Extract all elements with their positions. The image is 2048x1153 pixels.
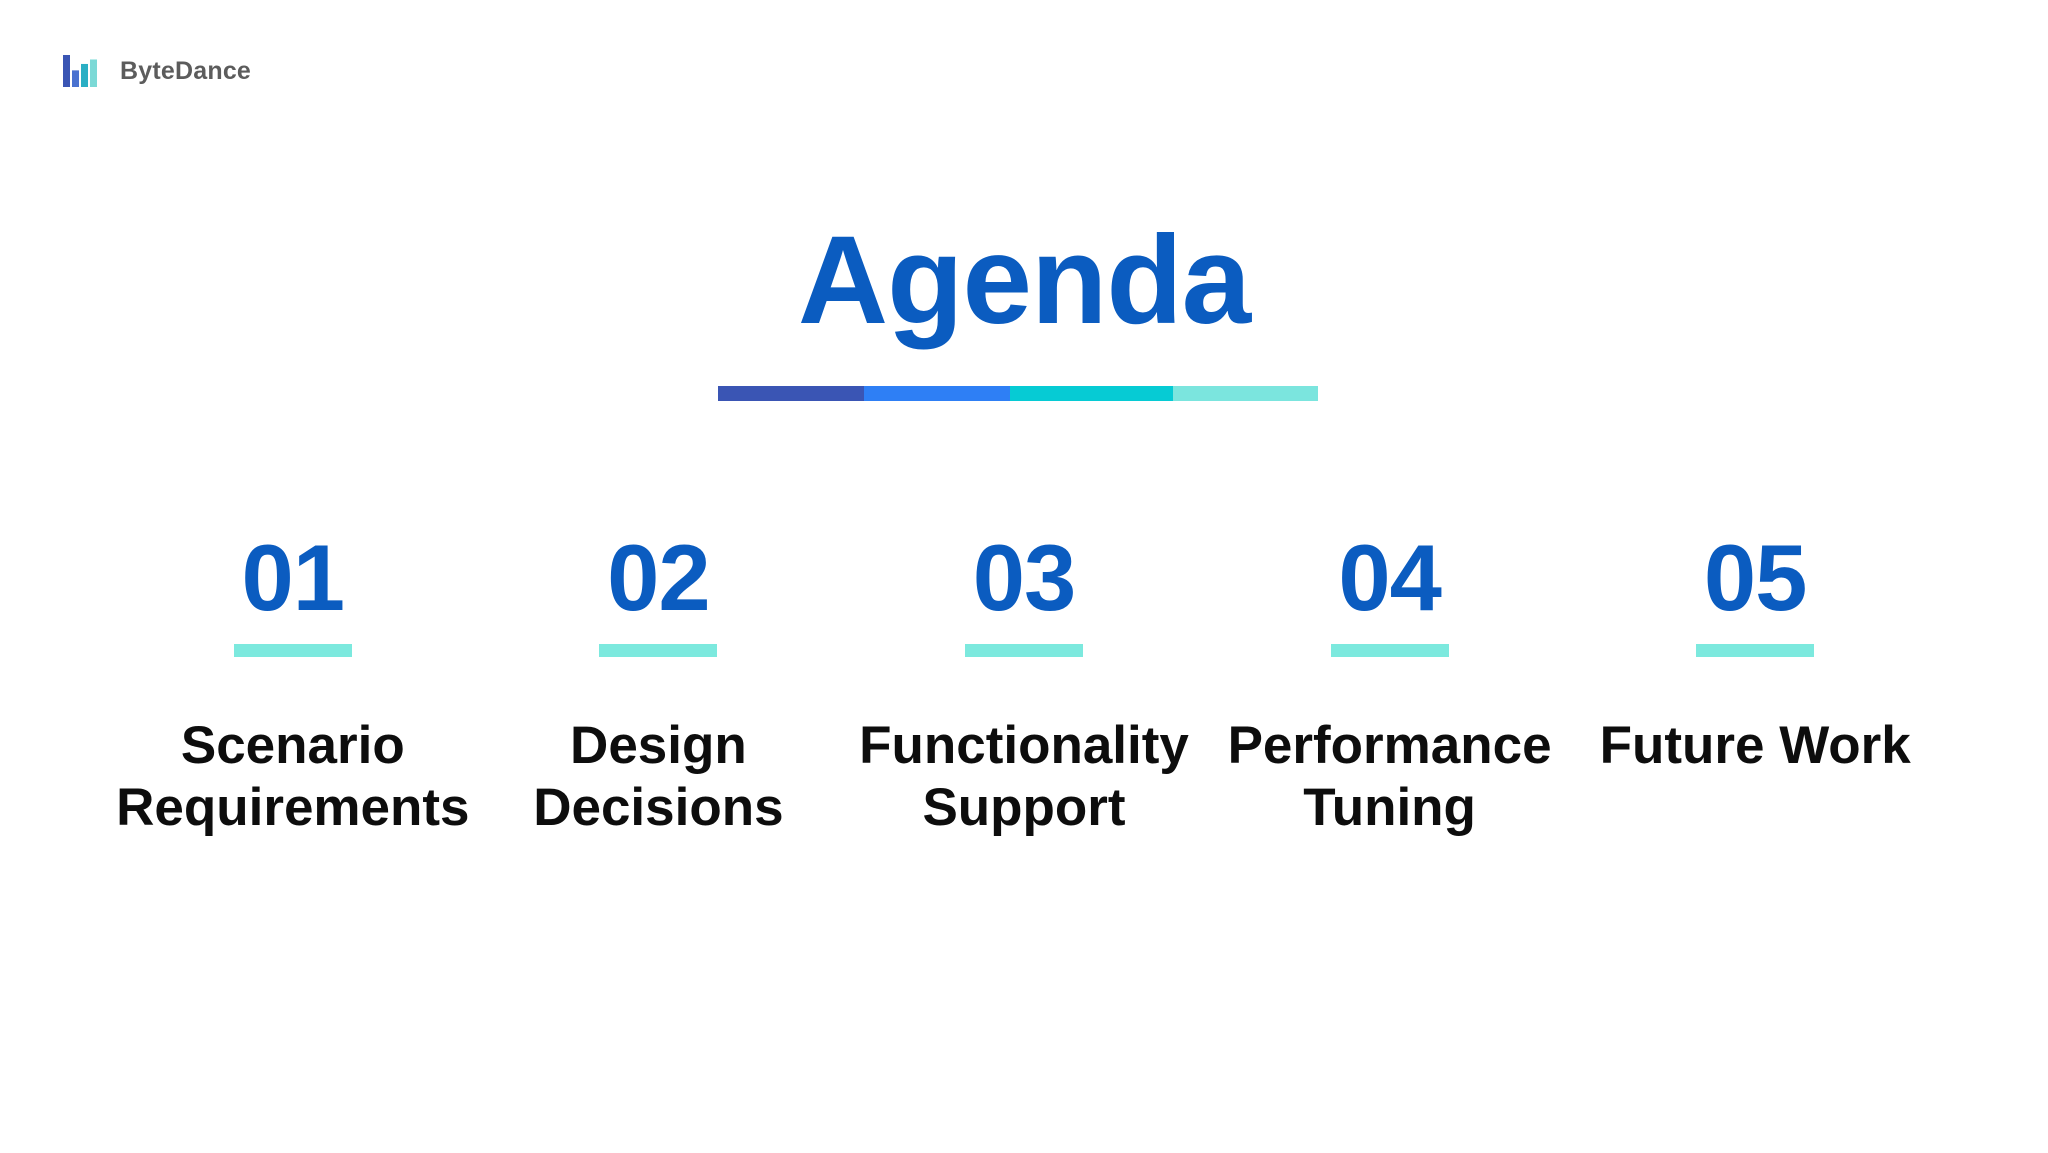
slide-title-block: Agenda [0, 218, 2048, 343]
agenda-item-label: Performance Tuning [1207, 715, 1573, 840]
agenda-item-label: Design Decisions [476, 715, 842, 840]
bar-chart-logo-icon [62, 55, 98, 87]
agenda-items-row: 01 Scenario Requirements 02 Design Decis… [0, 530, 2048, 840]
agenda-item-number: 04 [1338, 530, 1441, 626]
agenda-item-label: Future Work [1600, 715, 1911, 778]
agenda-item-04[interactable]: 04 Performance Tuning [1207, 530, 1573, 840]
agenda-item-label: Scenario Requirements [110, 715, 476, 840]
brand-name: ByteDance [120, 57, 251, 86]
title-gradient-rule [718, 386, 1318, 401]
rule-segment-mint [1173, 386, 1318, 401]
agenda-item-03[interactable]: 03 Functionality Support [841, 530, 1207, 840]
agenda-item-underline [234, 644, 352, 657]
rule-segment-indigo [718, 386, 864, 401]
agenda-item-underline [1331, 644, 1449, 657]
rule-segment-blue [864, 386, 1010, 401]
agenda-item-label: Functionality Support [841, 715, 1207, 840]
agenda-item-number: 01 [242, 530, 345, 626]
agenda-item-05[interactable]: 05 Future Work [1572, 530, 1938, 777]
agenda-item-01[interactable]: 01 Scenario Requirements [110, 530, 476, 840]
agenda-item-02[interactable]: 02 Design Decisions [476, 530, 842, 840]
agenda-item-underline [599, 644, 717, 657]
rule-segment-cyan [1010, 386, 1173, 401]
agenda-item-underline [965, 644, 1083, 657]
agenda-item-number: 02 [607, 530, 710, 626]
agenda-item-number: 03 [973, 530, 1076, 626]
page-title: Agenda [0, 218, 2048, 343]
brand-logo: ByteDance [62, 55, 251, 87]
agenda-item-underline [1696, 644, 1814, 657]
agenda-item-number: 05 [1704, 530, 1807, 626]
